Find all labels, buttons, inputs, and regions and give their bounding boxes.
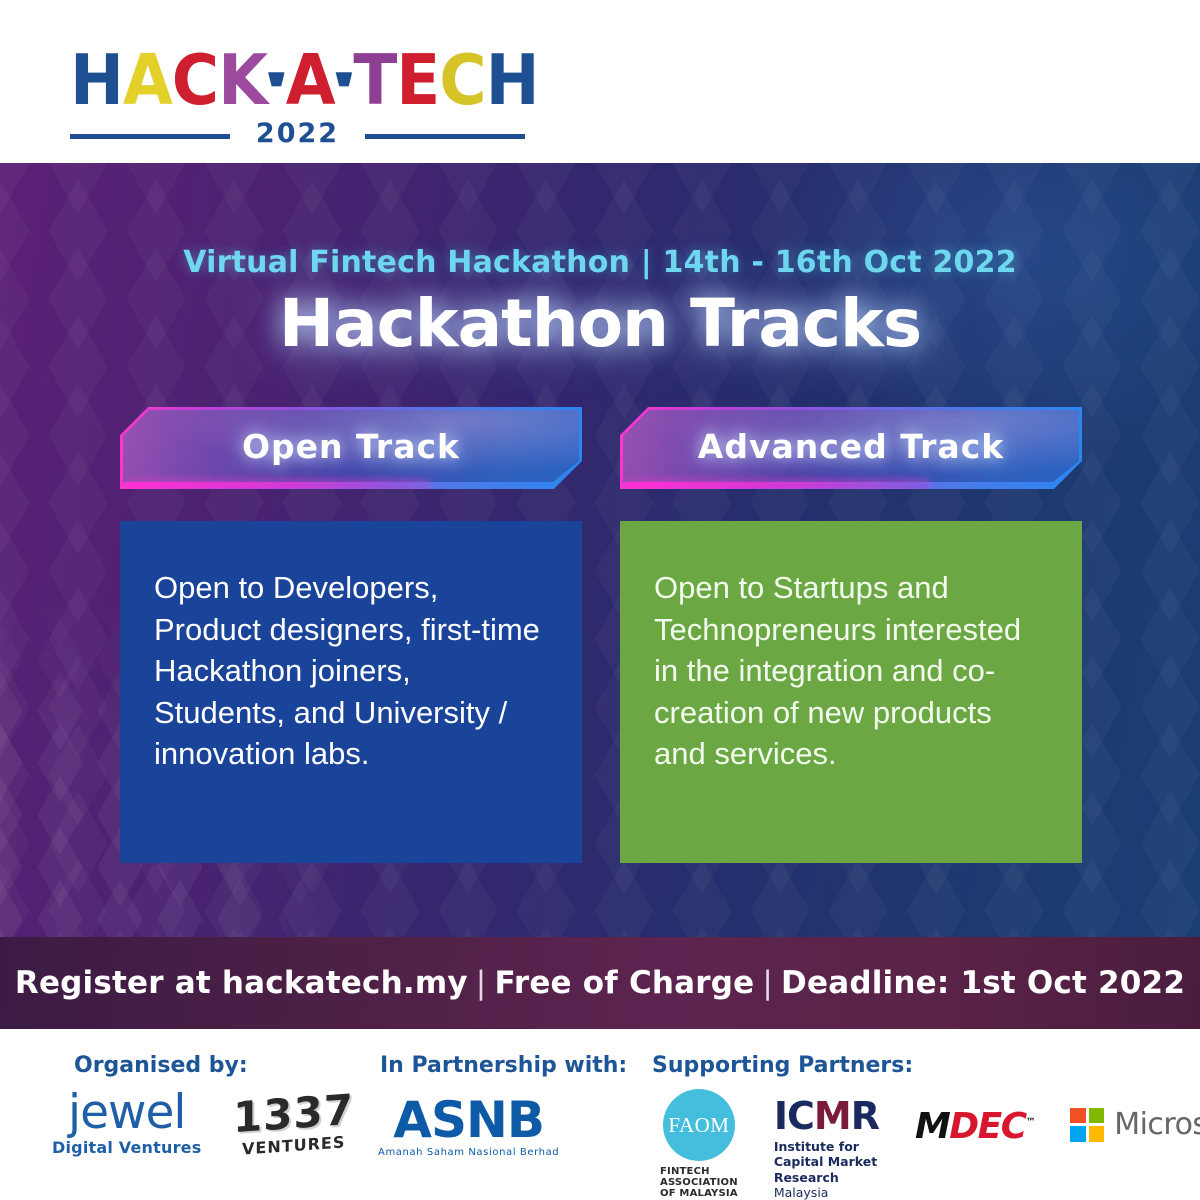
plate-underline-open: [128, 482, 428, 488]
logo-dash-icon: [268, 72, 285, 87]
logo-letter-h2: H: [486, 46, 539, 115]
ms-square-blue: [1070, 1126, 1086, 1142]
partnership-label: In Partnership with:: [380, 1053, 627, 1078]
logo-rule-right: [365, 134, 525, 139]
register-price-text: Free of Charge: [494, 965, 754, 1001]
v1337-ventures-logo: 1337 VENTURES: [233, 1093, 354, 1155]
logo-letter-c1: C: [172, 46, 218, 115]
track-header-open: Open Track: [120, 407, 582, 489]
mdec-mark-dec: DEC: [949, 1106, 1025, 1147]
icmr-tagline: Institute for Capital Market Research Ma…: [774, 1139, 877, 1200]
icmr-logo: ICMR Institute for Capital Market Resear…: [774, 1097, 879, 1200]
header-band: HACKATECH 2022: [0, 0, 1200, 163]
jewel-tagline: Digital Ventures: [52, 1138, 201, 1157]
logo-wordmark: HACKATECH: [70, 46, 543, 115]
asnb-tagline: Amanah Saham Nasional Berhad: [378, 1147, 559, 1158]
icmr-mark-m: M: [814, 1094, 851, 1138]
icmr-line1: Institute for: [774, 1139, 859, 1154]
microsoft-squares-icon: [1070, 1108, 1104, 1142]
register-text: Register at hackatech.my|Free of Charge|…: [15, 965, 1185, 1001]
hackatech-logo: HACKATECH 2022: [70, 46, 525, 152]
footer-band: Organised by: In Partnership with: Suppo…: [0, 1029, 1200, 1200]
track-title-open: Open Track: [120, 427, 582, 466]
v1337-number: 1337: [233, 1089, 354, 1139]
plate-underline-advanced: [628, 482, 928, 488]
faom-circle-mark: FAOM: [663, 1089, 735, 1161]
partner-logos: ASNB Amanah Saham Nasional Berhad: [378, 1095, 559, 1158]
page-title: Hackathon Tracks: [0, 285, 1200, 362]
event-kicker: Virtual Fintech Hackathon | 14th - 16th …: [0, 245, 1200, 280]
microsoft-wordmark: Microsoft: [1114, 1107, 1200, 1142]
track-title-advanced: Advanced Track: [620, 427, 1082, 466]
track-header-advanced: Advanced Track: [620, 407, 1082, 489]
ms-square-green: [1089, 1108, 1105, 1124]
register-deadline-text: Deadline: 1st Oct 2022: [781, 965, 1185, 1001]
icmr-wordmark: ICMR: [774, 1097, 879, 1135]
organiser-logos: jewel Digital Ventures 1337 VENTURES: [52, 1091, 354, 1157]
logo-letter-t: T: [353, 46, 396, 115]
asnb-wordmark: ASNB: [393, 1095, 544, 1145]
supporting-partner-logos: FAOM FINTECH ASSOCIATION OF MALAYSIA THE…: [660, 1089, 1200, 1200]
main-body: Virtual Fintech Hackathon | 14th - 16th …: [0, 163, 1200, 937]
mdec-mark-m: M: [915, 1106, 949, 1147]
icmr-line4: Malaysia: [774, 1185, 829, 1200]
logo-year-row: 2022: [70, 118, 525, 152]
icmr-line2: Capital Market: [774, 1154, 877, 1169]
mdec-logo: MDEC™: [915, 1109, 1034, 1145]
organised-by-label: Organised by:: [74, 1053, 248, 1078]
icmr-line3: Research: [774, 1170, 839, 1185]
logo-dash-icon-2: [336, 72, 353, 87]
microsoft-logo: Microsoft: [1070, 1107, 1200, 1142]
ms-square-yellow: [1089, 1126, 1105, 1142]
ms-square-red: [1070, 1108, 1086, 1124]
logo-letter-a2: A: [286, 46, 335, 115]
icmr-mark-r: R: [851, 1094, 879, 1138]
track-body-advanced: Open to Startups and Technopreneurs inte…: [620, 521, 1082, 863]
poster-canvas: HACKATECH 2022 Virtual Fintech Hackathon…: [0, 0, 1200, 1200]
register-separator-1: |: [468, 965, 495, 1001]
logo-letter-a1: A: [123, 46, 172, 115]
logo-letter-c2: C: [439, 46, 485, 115]
faom-line1: FINTECH ASSOCIATION OF MALAYSIA: [660, 1166, 738, 1199]
faom-logo: FAOM FINTECH ASSOCIATION OF MALAYSIA THE…: [660, 1089, 738, 1200]
icmr-mark-ic: IC: [774, 1094, 814, 1138]
supporting-partners-label: Supporting Partners:: [652, 1053, 913, 1078]
asnb-logo: ASNB Amanah Saham Nasional Berhad: [378, 1095, 559, 1158]
logo-letter-e: E: [396, 46, 439, 115]
mdec-trademark-icon: ™: [1026, 1117, 1035, 1128]
jewel-wordmark: jewel: [68, 1091, 185, 1136]
jewel-logo: jewel Digital Ventures: [52, 1091, 201, 1157]
logo-letter-h1: H: [70, 46, 123, 115]
register-bar: Register at hackatech.my|Free of Charge|…: [0, 937, 1200, 1029]
register-separator-2: |: [754, 965, 781, 1001]
track-body-open: Open to Developers, Product designers, f…: [120, 521, 582, 863]
register-url-text[interactable]: Register at hackatech.my: [15, 965, 468, 1001]
logo-letter-k: K: [218, 46, 267, 115]
